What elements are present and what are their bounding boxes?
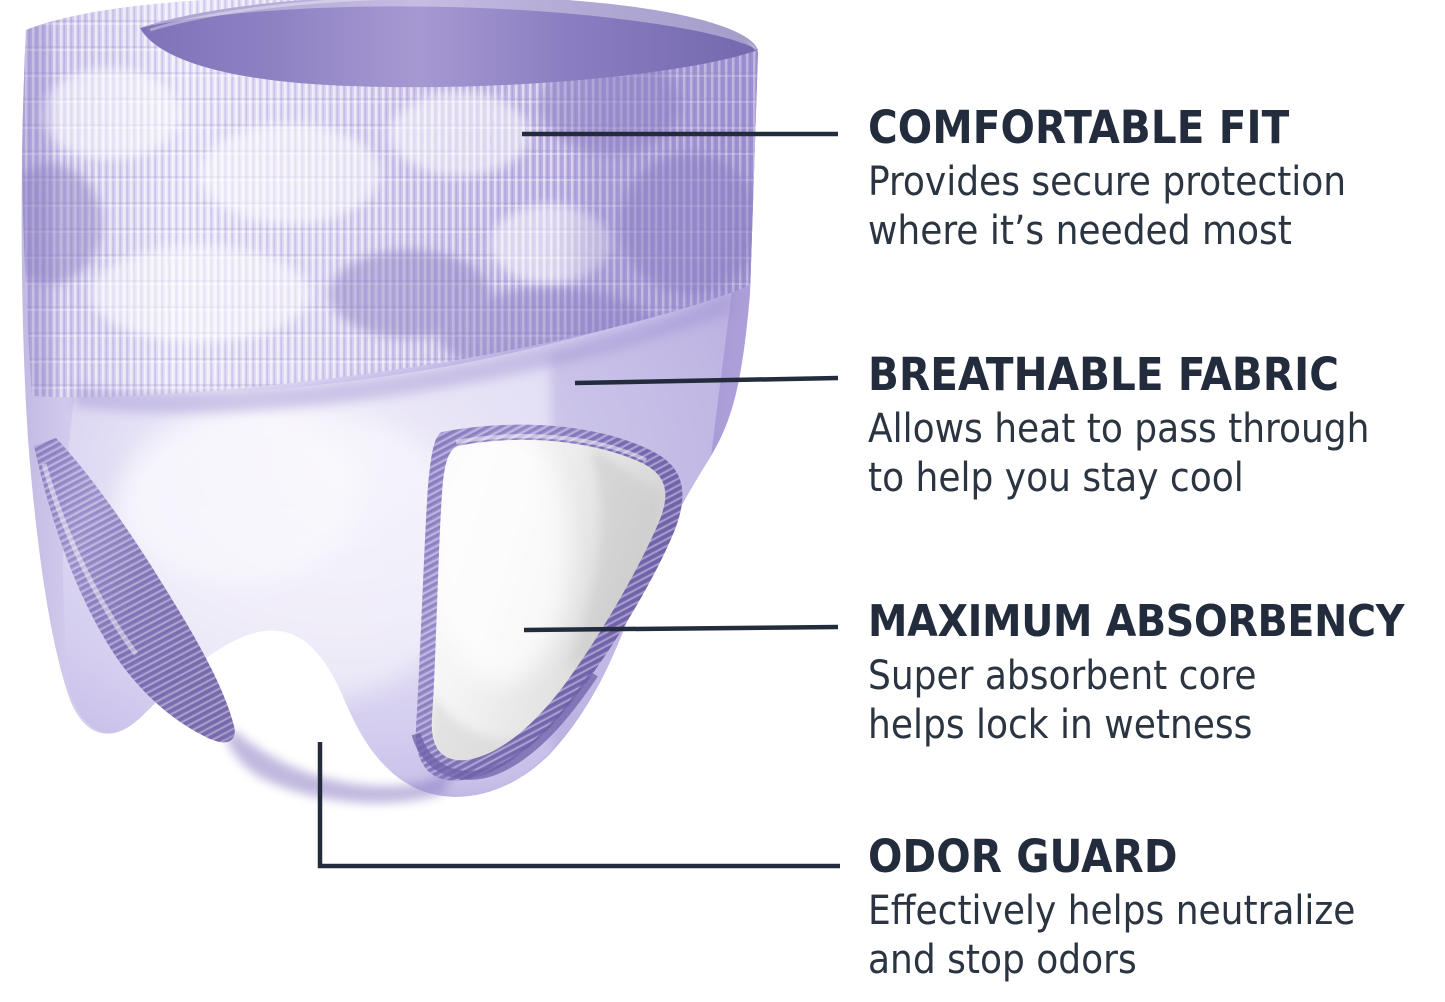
callout-body-line: where it’s needed most [868,207,1346,256]
callout-body-line: Effectively helps neutralize [868,887,1355,936]
callout-body-odor-guard: Effectively helps neutralize and stop od… [868,887,1355,985]
callout-body-line: helps lock in wetness [868,701,1404,750]
callout-title-maximum-absorbency: MAXIMUM ABSORBENCY [868,598,1404,646]
callout-odor-guard: ODOR GUARD Effectively helps neutralize … [868,833,1355,985]
callout-comfortable-fit: COMFORTABLE FIT Provides secure protecti… [868,104,1346,256]
callout-body-line: Allows heat to pass through [868,405,1369,454]
product-image [0,0,850,814]
infographic-canvas: COMFORTABLE FIT Provides secure protecti… [0,0,1445,1002]
callout-body-line: Provides secure protection [868,158,1346,207]
callout-body-maximum-absorbency: Super absorbent core helps lock in wetne… [868,652,1404,750]
callout-title-breathable-fabric: BREATHABLE FABRIC [868,351,1369,399]
callout-body-line: to help you stay cool [868,454,1369,503]
callout-body-line: and stop odors [868,936,1355,985]
callout-title-odor-guard: ODOR GUARD [868,833,1355,881]
callout-breathable-fabric: BREATHABLE FABRIC Allows heat to pass th… [868,351,1369,503]
callout-title-comfortable-fit: COMFORTABLE FIT [868,104,1346,152]
callout-body-line: Super absorbent core [868,652,1404,701]
leg-opening [416,424,690,784]
callout-body-breathable-fabric: Allows heat to pass through to help you … [868,405,1369,503]
callout-maximum-absorbency: MAXIMUM ABSORBENCY Super absorbent core … [868,598,1404,750]
callout-body-comfortable-fit: Provides secure protection where it’s ne… [868,158,1346,256]
